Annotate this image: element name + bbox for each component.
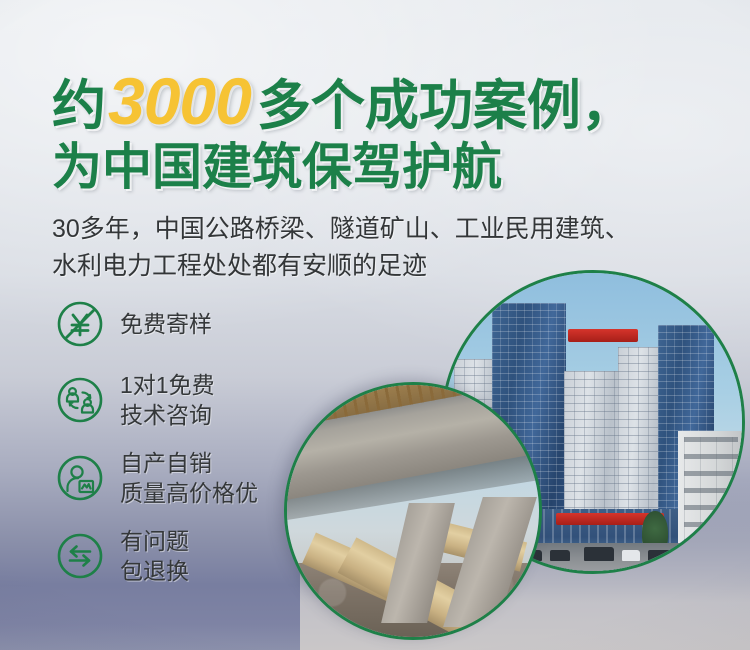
vehicle — [550, 550, 570, 561]
bridge-photo — [284, 382, 542, 640]
feature-item: 免费寄样 — [54, 296, 304, 352]
headline-line-1: 约3000多个成功案例， — [52, 72, 732, 135]
feature-label: 有问题 包退换 — [120, 526, 189, 586]
feature-label: 免费寄样 — [120, 309, 212, 339]
feature-label: 自产自销 质量高价格优 — [120, 448, 258, 508]
two-way-arrows-icon — [54, 530, 106, 582]
headline-line-2: 为中国建筑保驾护航 — [52, 139, 732, 195]
feature-item: 1对1免费 技术咨询 — [54, 370, 304, 430]
promo-banner: 约3000多个成功案例， 为中国建筑保驾护航 30多年，中国公路桥梁、隧道矿山、… — [0, 0, 750, 650]
vehicle — [584, 547, 614, 561]
feature-label: 1对1免费 技术咨询 — [120, 370, 215, 430]
roof-sign — [568, 329, 638, 342]
no-money-icon — [54, 298, 106, 350]
copy-block: 约3000多个成功案例， 为中国建筑保驾护航 30多年，中国公路桥梁、隧道矿山、… — [52, 72, 732, 285]
headline-suffix: 多个成功案例， — [257, 76, 635, 136]
feature-item: 有问题 包退换 — [54, 526, 304, 586]
vehicle — [622, 550, 640, 561]
bridge-photo-artwork — [287, 385, 539, 637]
people-exchange-icon — [54, 374, 106, 426]
headline-prefix: 约 — [52, 76, 106, 136]
subtitle-line-1: 30多年，中国公路桥梁、隧道矿山、工业民用建筑、 — [52, 211, 732, 248]
vehicle — [648, 550, 672, 561]
person-chart-icon — [54, 452, 106, 504]
feature-item: 自产自销 质量高价格优 — [54, 448, 304, 508]
feature-list: 免费寄样 1对1免 — [54, 296, 304, 604]
headline-number: 3000 — [106, 64, 257, 138]
